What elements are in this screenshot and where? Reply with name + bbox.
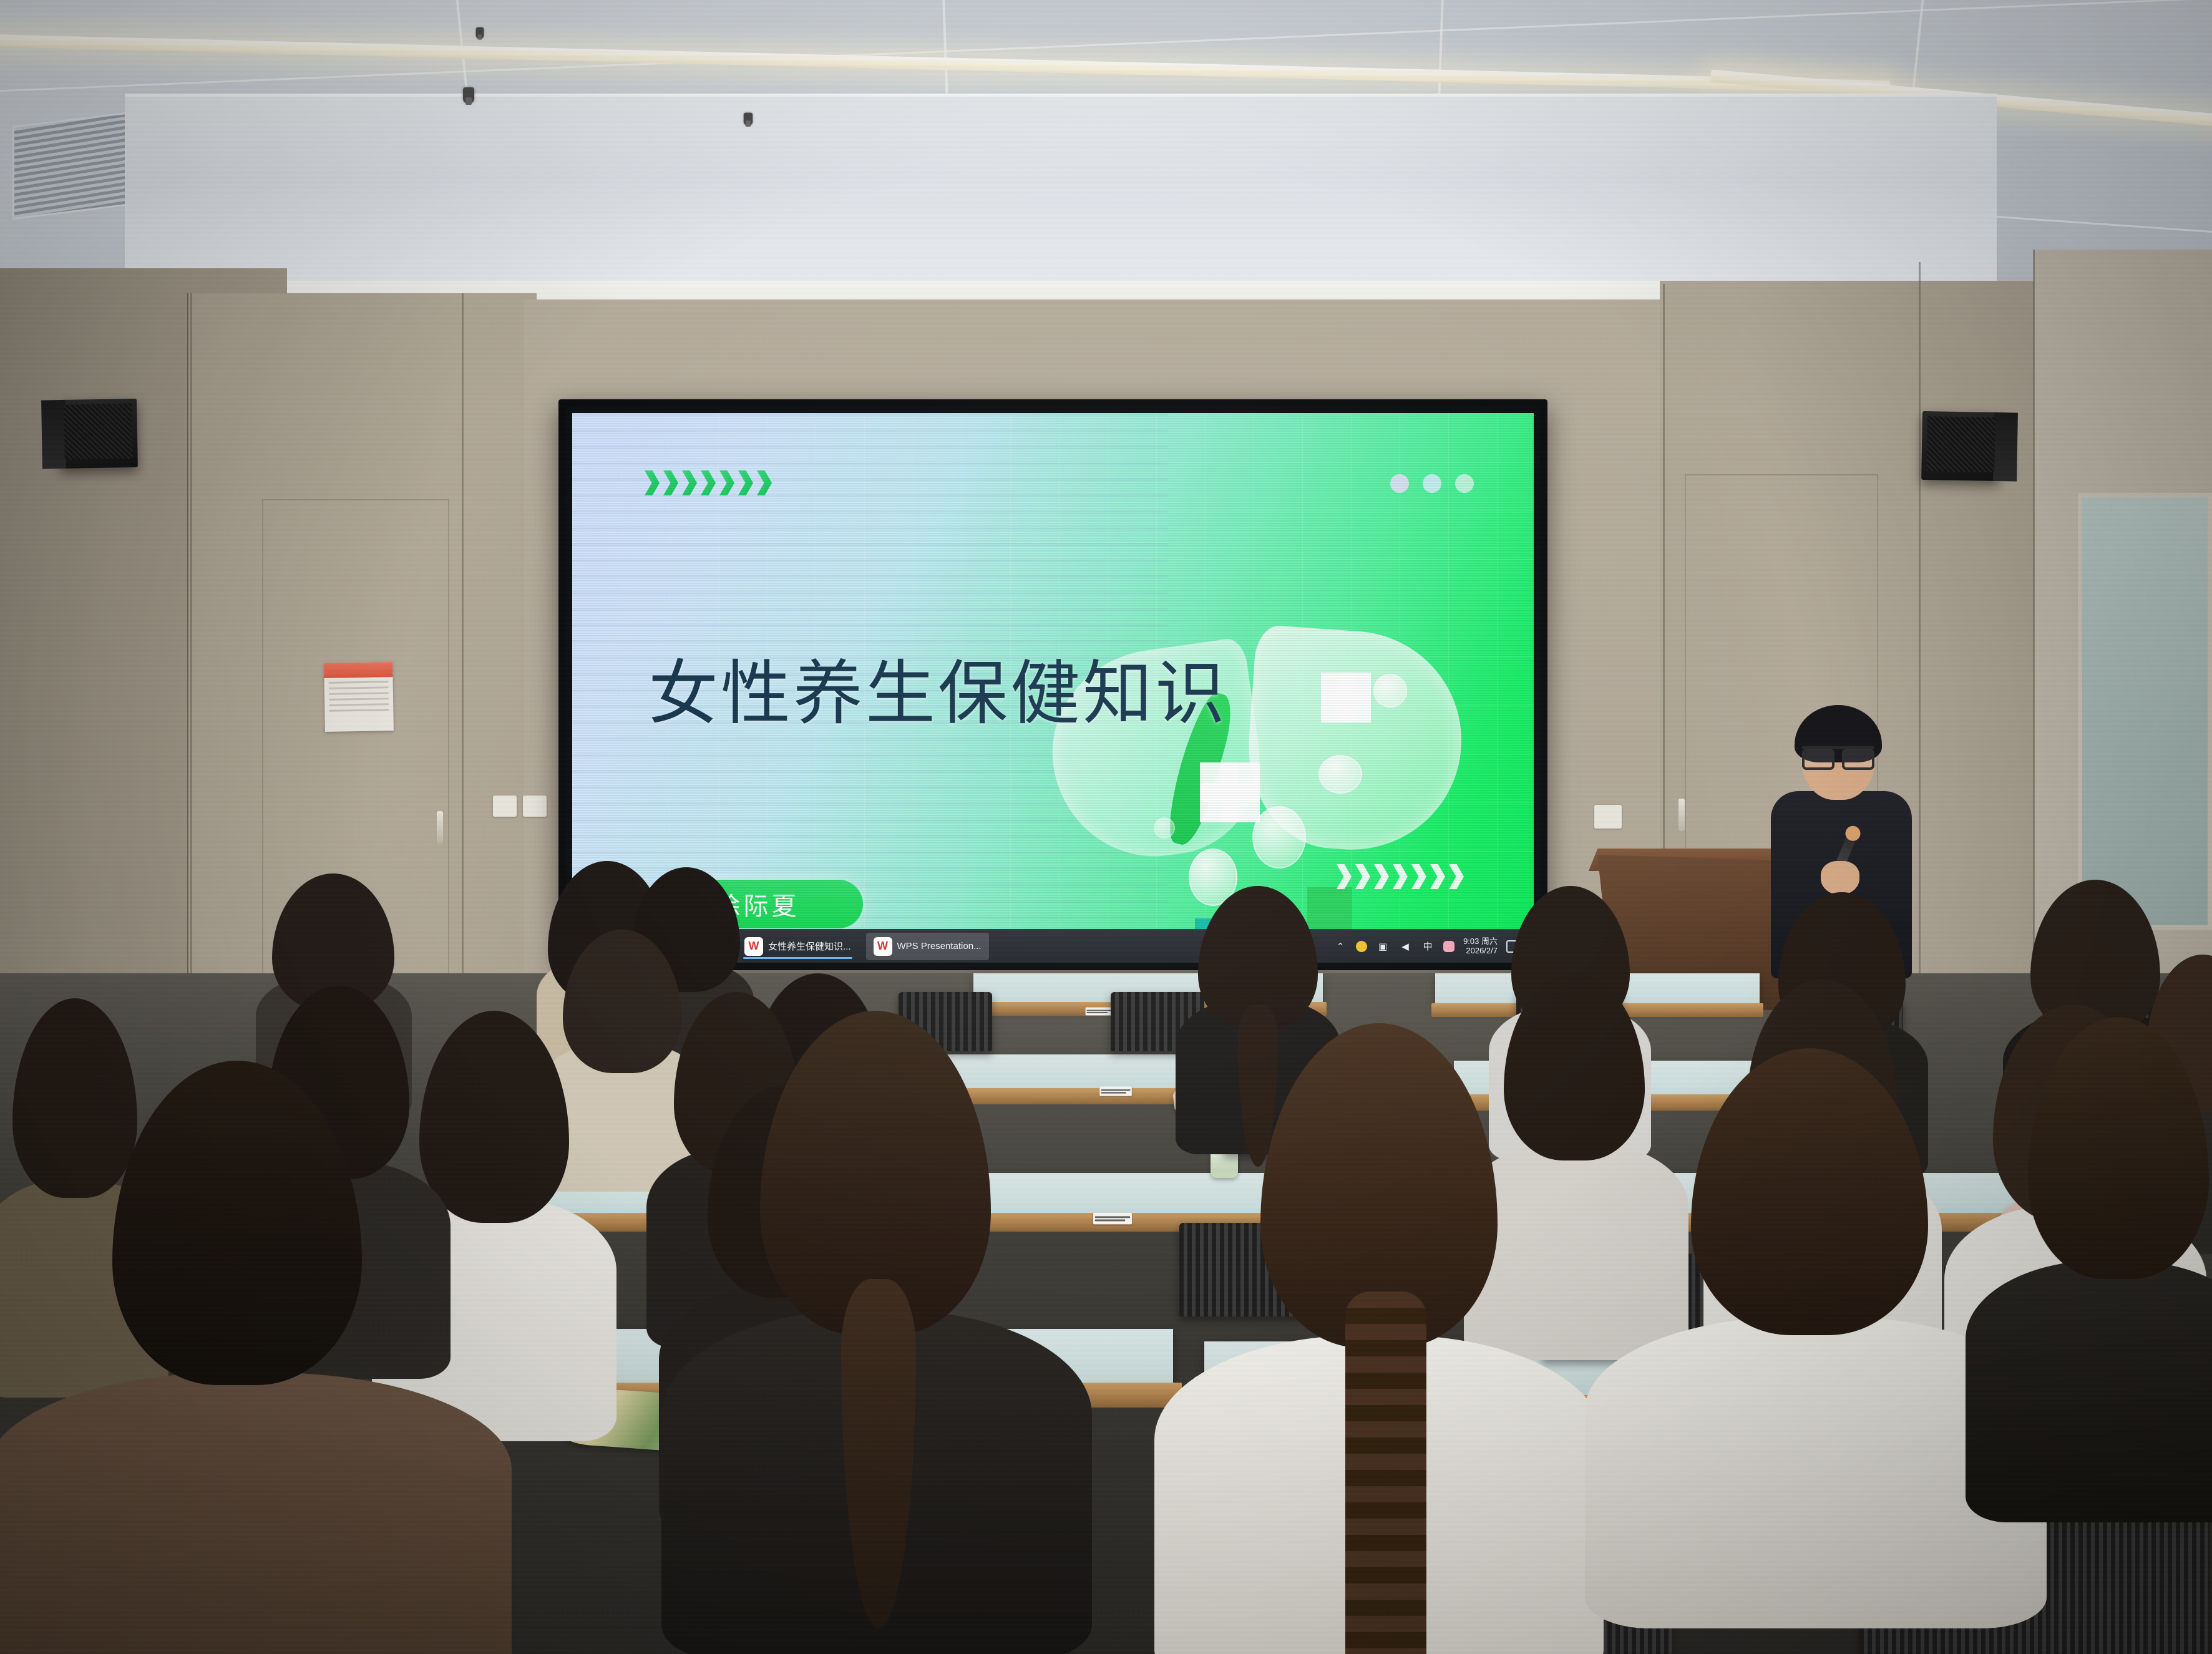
chevron-right-icon [719, 470, 734, 495]
person-body [0, 1373, 512, 1654]
door-handle-right[interactable] [1678, 799, 1685, 831]
tray-app-icon[interactable] [1443, 941, 1454, 952]
desk-asset-label [1086, 1008, 1113, 1016]
decor-dot-icon [1455, 474, 1474, 493]
chevron-right-icon [701, 470, 716, 495]
audience-member-front [1660, 1048, 1959, 1585]
chevron-right-icon [1411, 864, 1426, 889]
chevron-right-icon [1355, 864, 1370, 889]
wps-document-task[interactable]: W 女性养生保健知识... [737, 933, 859, 960]
desk-asset-label [1093, 1213, 1132, 1225]
tray-clock[interactable]: 9:03 周六 2026/2/7 [1463, 937, 1498, 956]
slide-canvas: 女性养生保健知识 徐际夏 2026-02-27 [572, 413, 1534, 929]
wps-presentation-task-label: WPS Presentation... [897, 941, 982, 951]
audience-member-front [75, 1061, 424, 1654]
sprinkler-head-icon [463, 87, 474, 104]
audience-member-front [2009, 1017, 2212, 1491]
tray-time: 9:03 周六 [1463, 936, 1498, 946]
speaker-grille [64, 404, 133, 460]
sprinkler-head-icon [744, 113, 753, 126]
tray-network-icon[interactable]: ▣ [1376, 940, 1390, 953]
hvac-vent [12, 111, 137, 220]
ceiling-recess [125, 94, 1997, 299]
wall-speaker-right [1921, 411, 2000, 481]
wall-notice-poster [324, 662, 394, 732]
sprinkler-head-icon [476, 27, 484, 39]
person-hair [1504, 973, 1645, 1160]
photo-scene: 女性养生保健知识 徐际夏 2026-02-27 e AI W [0, 0, 2212, 1654]
door-handle-left[interactable] [437, 811, 443, 844]
chevron-right-icon [757, 470, 772, 495]
bubble-icon [1154, 817, 1175, 839]
desk-asset-label [1099, 1086, 1132, 1096]
light-switch-plate[interactable] [493, 795, 517, 817]
tray-date: 2026/2/7 [1466, 946, 1498, 955]
tray-ime-icon[interactable]: 中 [1421, 940, 1435, 953]
notice-body-lines [324, 677, 393, 719]
dot-row-top-right [1390, 474, 1474, 493]
person-hair [112, 1061, 362, 1385]
speaker-bracket [1993, 412, 2018, 482]
wps-presentation-task[interactable]: W WPS Presentation... [866, 933, 989, 960]
audience-member-front [1235, 1023, 1523, 1654]
tray-volume-icon[interactable]: ◀ [1398, 940, 1412, 953]
chevron-right-icon [663, 470, 678, 495]
decor-dot-icon [1390, 474, 1409, 493]
chevron-row-bottom-right [1337, 864, 1464, 889]
chevron-right-icon [1393, 864, 1408, 889]
medical-cross-icon [1200, 762, 1260, 822]
light-switch-plate[interactable] [1594, 805, 1622, 829]
decor-dot-icon [1423, 474, 1441, 493]
chevron-row-top-left [645, 470, 772, 495]
person-hair [2028, 1017, 2209, 1279]
tray-status-icon[interactable] [1356, 941, 1367, 952]
chevron-right-icon [1430, 864, 1445, 889]
wps-document-task-label: 女性养生保健知识... [768, 940, 851, 953]
frosted-glass-panel [2078, 493, 2212, 930]
chevron-right-icon [1337, 864, 1352, 889]
medical-cross-icon [1321, 673, 1371, 722]
glasses-icon [1802, 746, 1874, 762]
audience-member-front [736, 1011, 1017, 1654]
chevron-right-icon [645, 470, 660, 495]
wps-presentation-icon: W [874, 937, 892, 956]
bubble-icon [1318, 755, 1362, 794]
speaker-grille [1926, 416, 1995, 472]
notice-header-band [324, 662, 392, 678]
chevron-right-icon [682, 470, 697, 495]
chevron-right-icon [1449, 864, 1464, 889]
tray-chevron-up-icon[interactable]: ⌃ [1333, 940, 1347, 953]
braid [1345, 1292, 1426, 1654]
bubble-icon [1373, 674, 1407, 708]
person-hair [419, 1011, 569, 1223]
presenter-hand [1821, 861, 1859, 895]
speaker-bracket [41, 400, 66, 469]
light-switch-plate[interactable] [523, 795, 547, 817]
wall-speaker-left [59, 399, 138, 469]
chevron-right-icon [1374, 864, 1389, 889]
bubble-icon [1252, 806, 1306, 868]
slide-title: 女性养生保健知识 [648, 658, 1227, 731]
person-hair [1691, 1048, 1928, 1335]
task-active-underline [743, 957, 852, 959]
person-body [1966, 1260, 2212, 1522]
chevron-right-icon [738, 470, 753, 495]
